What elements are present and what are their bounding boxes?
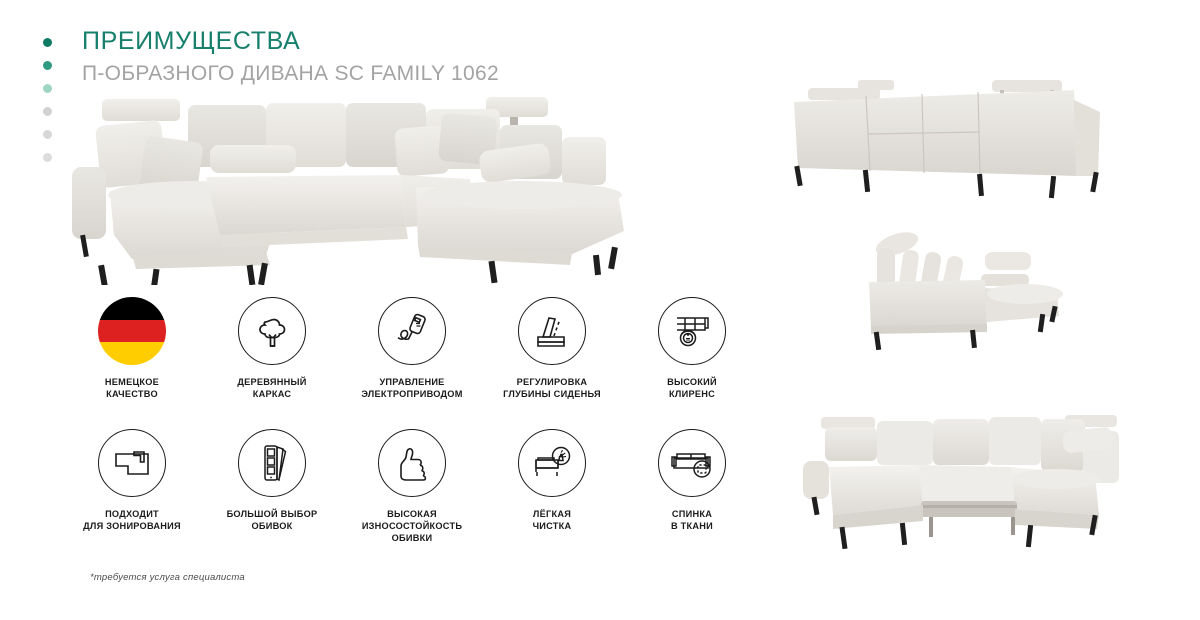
sofa-back-view-image <box>782 72 1132 204</box>
seat-depth-icon <box>518 297 586 365</box>
fabric-swatch-icon <box>238 429 306 497</box>
feature-upholstery-choice[interactable]: БОЛЬШОЙ ВЫБОРОБИВОК <box>202 429 342 561</box>
sofa-spray-clean-icon <box>518 429 586 497</box>
feature-german-quality[interactable]: НЕМЕЦКОЕКАЧЕСТВО <box>62 297 202 429</box>
feature-caption: УПРАВЛЕНИЕЭЛЕКТРОПРИВОДОМ <box>346 376 478 400</box>
dot-5 <box>43 130 52 139</box>
page-title: ПРЕИМУЩЕСТВА <box>82 28 499 56</box>
features-grid: НЕМЕЦКОЕКАЧЕСТВО ДЕРЕВЯННЫЙКАРКАС <box>62 297 762 561</box>
page-header: ПРЕИМУЩЕСТВА П-ОБРАЗНОГО ДИВАНА SC FAMIL… <box>0 0 760 110</box>
remote-control-icon <box>378 297 446 365</box>
feature-seat-depth-adjustment[interactable]: РЕГУЛИРОВКАГЛУБИНЫ СИДЕНЬЯ <box>482 297 622 429</box>
tree-icon <box>238 297 306 365</box>
feature-caption: ВЫСОКАЯИЗНОСОСТОЙКОСТЬОБИВКИ <box>346 508 478 544</box>
robot-vacuum-icon <box>658 297 726 365</box>
dot-2 <box>43 61 52 70</box>
feature-wooden-frame[interactable]: ДЕРЕВЯННЫЙКАРКАС <box>202 297 342 429</box>
footnote-text: *требуется услуга специалиста <box>90 572 245 583</box>
feature-caption: ВЫСОКИЙКЛИРЕНС <box>626 376 758 400</box>
sofa-front-three-quarter-image <box>70 95 650 285</box>
dot-3 <box>43 84 52 93</box>
thumbs-up-icon <box>378 429 446 497</box>
feature-fabric-back[interactable]: СПИНКАВ ТКАНИ <box>622 429 762 561</box>
feature-caption: ДЕРЕВЯННЫЙКАРКАС <box>206 376 338 400</box>
feature-high-clearance[interactable]: ВЫСОКИЙКЛИРЕНС <box>622 297 762 429</box>
dot-6 <box>43 153 52 162</box>
sofa-side-view-image <box>845 222 1095 350</box>
sofa-back-fabric-icon <box>658 429 726 497</box>
title-block: ПРЕИМУЩЕСТВА П-ОБРАЗНОГО ДИВАНА SC FAMIL… <box>82 28 499 86</box>
feature-zoning[interactable]: ПОДХОДИТДЛЯ ЗОНИРОВАНИЯ <box>62 429 202 561</box>
floor-plan-icon <box>98 429 166 497</box>
feature-caption: НЕМЕЦКОЕКАЧЕСТВО <box>66 376 198 400</box>
page-subtitle: П-ОБРАЗНОГО ДИВАНА SC FAMILY 1062 <box>82 62 499 86</box>
decorative-dot-column <box>43 38 52 162</box>
feature-caption: ПОДХОДИТДЛЯ ЗОНИРОВАНИЯ <box>66 508 198 532</box>
feature-caption: РЕГУЛИРОВКАГЛУБИНЫ СИДЕНЬЯ <box>486 376 618 400</box>
dot-4 <box>43 107 52 116</box>
feature-caption: СПИНКАВ ТКАНИ <box>626 508 758 532</box>
sofa-unfolded-view-image <box>795 405 1155 565</box>
german-flag-icon <box>98 297 166 365</box>
feature-wear-resistance[interactable]: ВЫСОКАЯИЗНОСОСТОЙКОСТЬОБИВКИ <box>342 429 482 561</box>
dot-1 <box>43 38 52 47</box>
feature-caption: ЛЁГКАЯЧИСТКА <box>486 508 618 532</box>
feature-caption: БОЛЬШОЙ ВЫБОРОБИВОК <box>206 508 338 532</box>
feature-electric-drive-control[interactable]: УПРАВЛЕНИЕЭЛЕКТРОПРИВОДОМ <box>342 297 482 429</box>
feature-easy-cleaning[interactable]: ЛЁГКАЯЧИСТКА <box>482 429 622 561</box>
